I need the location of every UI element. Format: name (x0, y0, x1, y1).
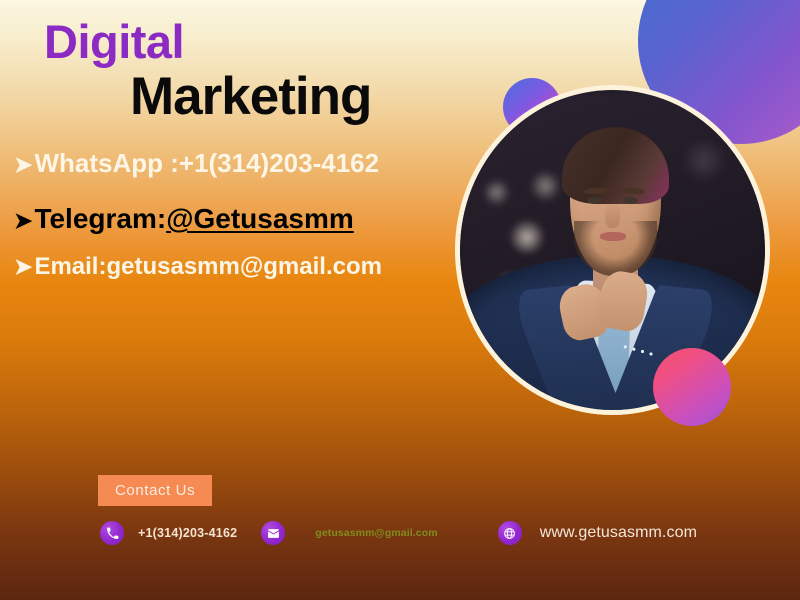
email-address: getusasmm@gmail.com (106, 253, 381, 281)
whatsapp-label: WhatsApp : (34, 148, 178, 179)
envelope-icon (261, 521, 285, 545)
headline-secondary: Marketing (130, 66, 371, 127)
arrow-bullet-icon: ➤ (14, 210, 32, 232)
decorative-circle-bottom-right (653, 348, 731, 426)
whatsapp-number: +1(314)203-4162 (179, 148, 379, 179)
contact-list: ➤ WhatsApp : +1(314)203-4162 ➤ Telegram:… (14, 148, 382, 281)
telegram-label: Telegram: (34, 203, 166, 235)
telegram-handle-link[interactable]: @Getusasmm (166, 203, 354, 235)
mouth (600, 232, 626, 240)
footer-email-text: getusasmm@gmail.com (315, 527, 437, 539)
footer-phone-item[interactable]: +1(314)203-4162 (100, 521, 237, 545)
contact-line-email: ➤ Email: getusasmm@gmail.com (14, 253, 382, 281)
arrow-bullet-icon: ➤ (14, 154, 32, 176)
contact-us-button[interactable]: Contact Us (98, 475, 212, 506)
contact-line-whatsapp: ➤ WhatsApp : +1(314)203-4162 (14, 148, 382, 179)
globe-icon (498, 521, 522, 545)
phone-icon (100, 521, 124, 545)
arrow-bullet-icon: ➤ (14, 256, 32, 278)
footer-website-text: www.getusasmm.com (540, 524, 697, 542)
headline-primary: Digital (44, 14, 184, 69)
footer-email-item[interactable]: getusasmm@gmail.com (261, 521, 437, 545)
promo-poster: Digital Marketing ➤ WhatsApp : +1(314)20… (0, 0, 800, 600)
footer-website-item[interactable]: www.getusasmm.com (498, 521, 697, 545)
footer-phone-text: +1(314)203-4162 (138, 526, 237, 540)
contact-line-telegram: ➤ Telegram: @Getusasmm (14, 203, 382, 235)
email-label: Email: (34, 253, 106, 281)
sleeve-buttons (622, 343, 656, 356)
footer-contact-bar: +1(314)203-4162 getusasmm@gmail.com (100, 521, 697, 545)
